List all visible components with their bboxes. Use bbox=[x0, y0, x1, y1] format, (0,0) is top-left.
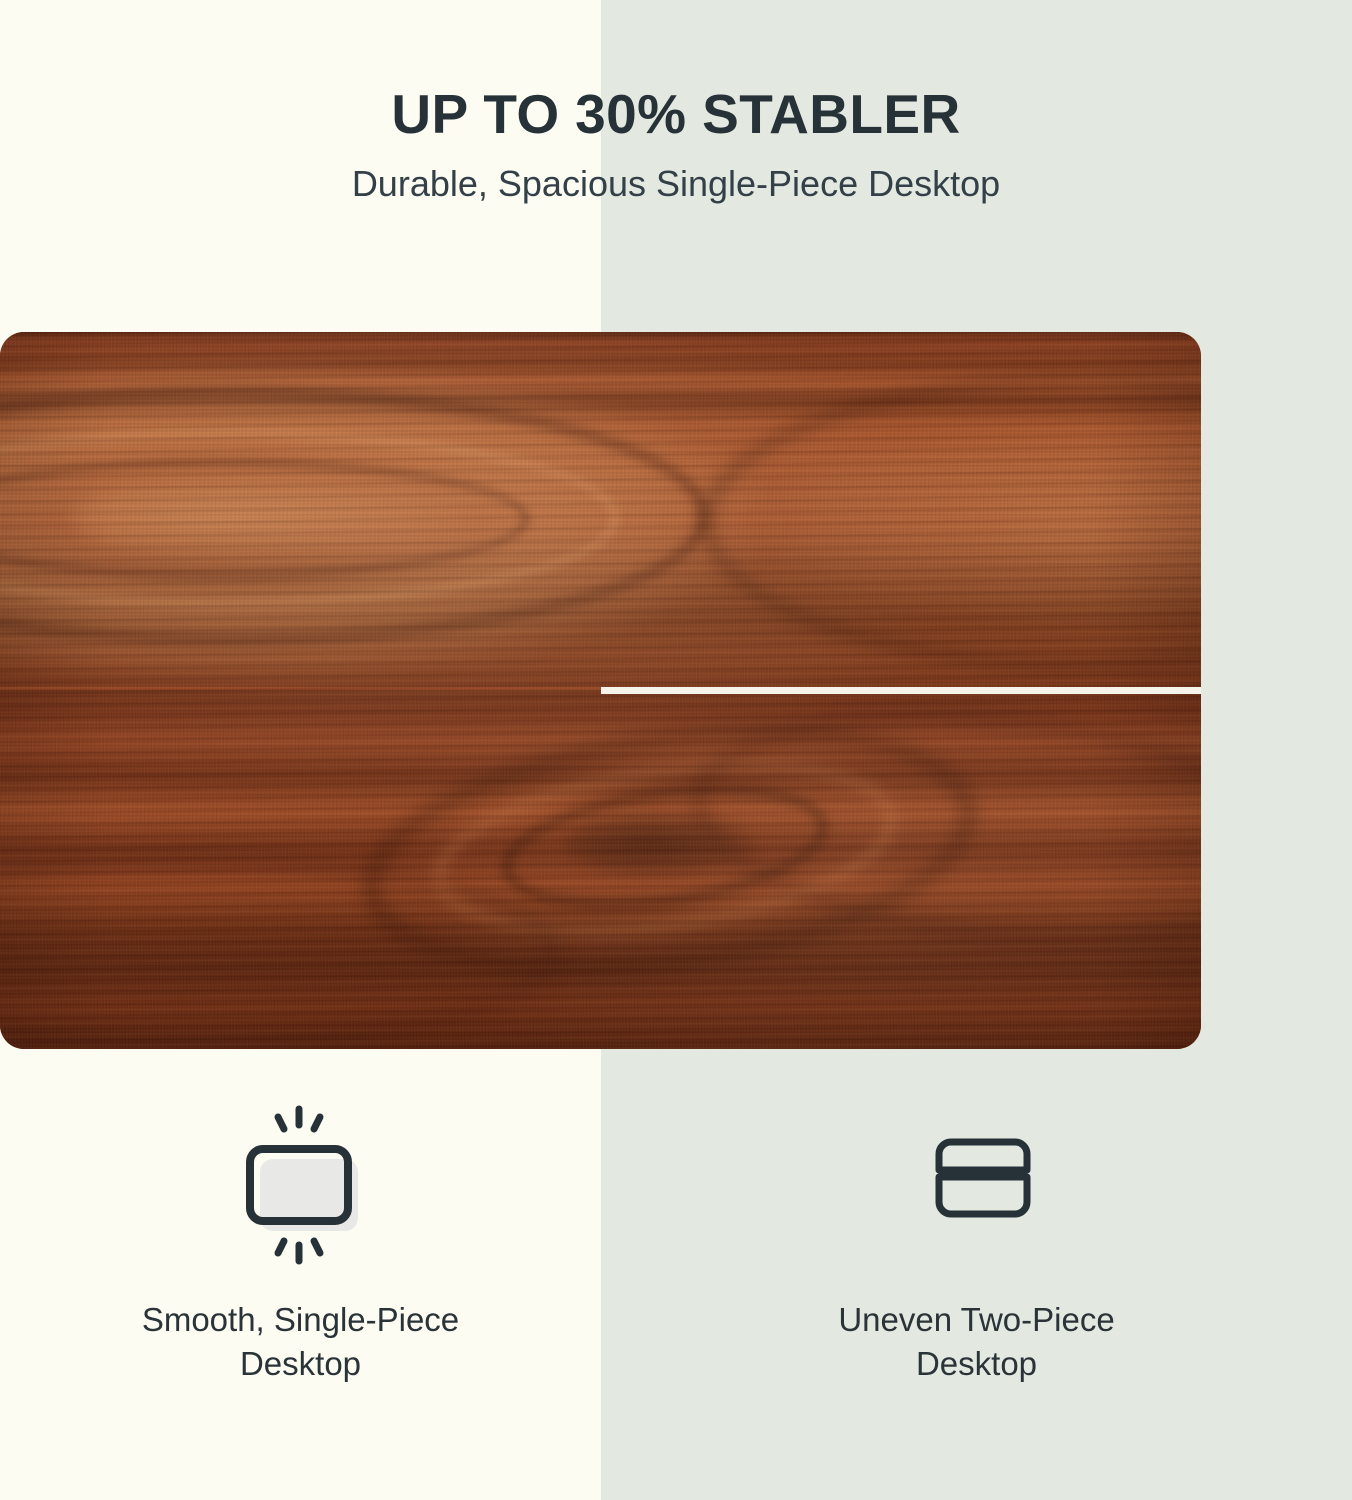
page-subtitle: Durable, Spacious Single-Piece Desktop bbox=[0, 164, 1352, 204]
feature-single-piece-desktop: Smooth, Single-Piece Desktop bbox=[0, 1095, 601, 1500]
feature-comparison-row: Smooth, Single-Piece Desktop Uneven Two-… bbox=[0, 1095, 1352, 1500]
two-piece-desktop-split-icon bbox=[887, 1095, 1067, 1260]
single-piece-desktop-shine-icon bbox=[211, 1095, 391, 1260]
two-piece-seam-line bbox=[601, 687, 1201, 694]
feature-two-piece-desktop: Uneven Two-Piece Desktop bbox=[601, 1095, 1352, 1500]
feature-two-piece-caption: Uneven Two-Piece Desktop bbox=[838, 1298, 1114, 1385]
heading-block: UP TO 30% STABLER Durable, Spacious Sing… bbox=[0, 0, 1352, 204]
feature-single-piece-caption: Smooth, Single-Piece Desktop bbox=[142, 1298, 459, 1385]
page-title: UP TO 30% STABLER bbox=[0, 86, 1352, 142]
product-comparison-infographic: UP TO 30% STABLER Durable, Spacious Sing… bbox=[0, 0, 1352, 1500]
